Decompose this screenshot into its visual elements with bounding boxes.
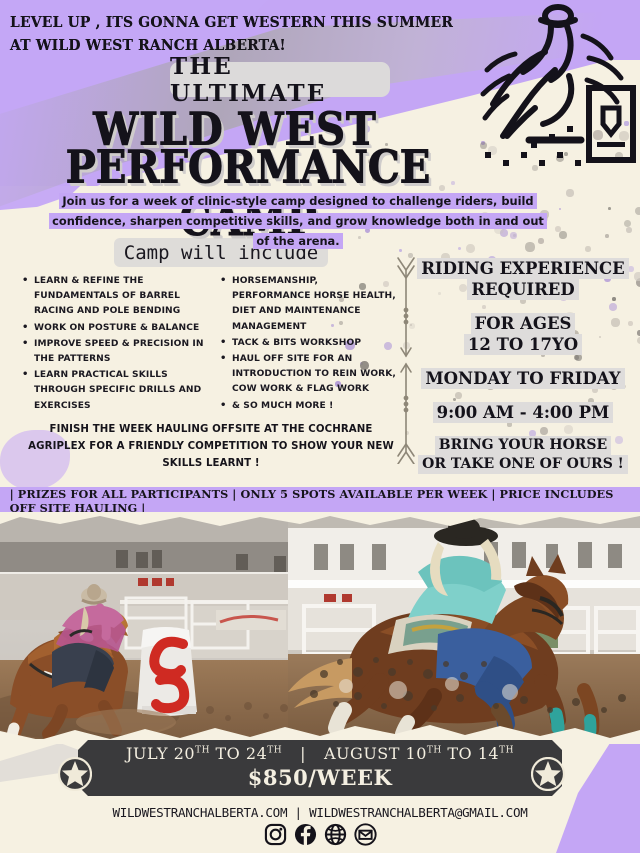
list-item: WORK ON POSTURE & BALANCE: [22, 321, 214, 336]
finish-note: FINISH THE WEEK HAULING OFFSITE AT THE C…: [26, 421, 396, 472]
session-1-suffix: TH: [195, 746, 210, 756]
date-line: JULY 20TH TO 24TH|AUGUST 10TH TO 14TH: [78, 744, 562, 763]
globe-icon[interactable]: [324, 823, 347, 846]
list-item: IMPROVE SPEED & PRECISION IN THE PATTERN…: [22, 337, 214, 367]
email-icon[interactable]: [354, 823, 377, 846]
info-line: FOR AGES: [471, 313, 576, 334]
info-ages: FOR AGES 12 TO 17YO: [412, 313, 634, 355]
info-horse: BRING YOUR HORSE OR TAKE ONE OF OURS !: [412, 436, 634, 474]
instagram-icon[interactable]: [264, 823, 287, 846]
info-hours: 9:00 AM - 4:00 PM: [412, 402, 634, 423]
info-line: MONDAY TO FRIDAY: [421, 368, 624, 389]
list-item: HORSEMANSHIP, PERFORMANCE HORSE HEALTH, …: [220, 274, 396, 335]
photo-barrel-racer: [0, 514, 302, 739]
list-item: HAUL OFF SITE FOR AN INTRODUCTION TO REI…: [220, 352, 396, 398]
info-line: 12 TO 17YO: [464, 334, 582, 355]
social-icons: [0, 823, 640, 846]
info-line: RIDING EXPERIENCE: [417, 258, 629, 279]
prize-banner-text: | PRIZES FOR ALL PARTICIPANTS | ONLY 5 S…: [10, 487, 631, 515]
session-1-date: JULY 20: [126, 744, 195, 763]
barrel-racer-illustration: [463, 0, 638, 175]
poster: LEVEL UP , ITS GONNA GET WESTERN THIS SU…: [0, 0, 640, 853]
info-line: OR TAKE ONE OF OURS !: [418, 455, 628, 474]
price-text: $850/WEEK: [78, 765, 562, 790]
photo-galloping-rider: [288, 514, 640, 739]
list-item: & SO MUCH MORE !: [220, 399, 396, 414]
date-separator: |: [282, 744, 324, 763]
info-riding-experience: RIDING EXPERIENCE REQUIRED: [412, 258, 634, 300]
sheriff-star-icon-right: [531, 757, 565, 791]
sheriff-star-icon-left: [58, 757, 92, 791]
info-line: 9:00 AM - 4:00 PM: [433, 402, 614, 423]
footer-contact[interactable]: WILDWESTRANCHALBERTA.COM | WILDWESTRANCH…: [0, 805, 640, 820]
info-days: MONDAY TO FRIDAY: [412, 368, 634, 389]
info-line: REQUIRED: [467, 279, 578, 300]
session-1-mid: TO 24: [210, 744, 267, 763]
intro-paragraph: Join us for a week of clinic-style camp …: [48, 191, 548, 251]
info-panel: RIDING EXPERIENCE REQUIRED FOR AGES 12 T…: [412, 258, 634, 487]
info-line: BRING YOUR HORSE: [435, 436, 611, 455]
session-2-date: AUGUST 10: [324, 744, 427, 763]
session-2-mid: TO 14: [442, 744, 499, 763]
header-line-1: LEVEL UP , ITS GONNA GET WESTERN THIS SU…: [10, 13, 453, 32]
list-item: LEARN & REFINE THE FUNDAMENTALS OF BARRE…: [22, 274, 214, 320]
intro-text: Join us for a week of clinic-style camp …: [49, 193, 547, 249]
include-list-right: HORSEMANSHIP, PERFORMANCE HORSE HEALTH, …: [220, 274, 396, 415]
session-2-suffix-2: TH: [499, 746, 514, 756]
list-item: LEARN PRACTICAL SKILLS THROUGH SPECIFIC …: [22, 368, 214, 414]
prize-banner: | PRIZES FOR ALL PARTICIPANTS | ONLY 5 S…: [0, 487, 640, 514]
session-1-suffix-2: TH: [267, 746, 282, 756]
include-list-left: LEARN & REFINE THE FUNDAMENTALS OF BARRE…: [22, 274, 214, 415]
session-2-suffix: TH: [427, 746, 442, 756]
facebook-icon[interactable]: [294, 823, 317, 846]
photo-strip: [0, 514, 640, 739]
list-item: TACK & BITS WORKSHOP: [220, 336, 396, 351]
title-eyebrow: THE ULTIMATE: [170, 62, 390, 97]
